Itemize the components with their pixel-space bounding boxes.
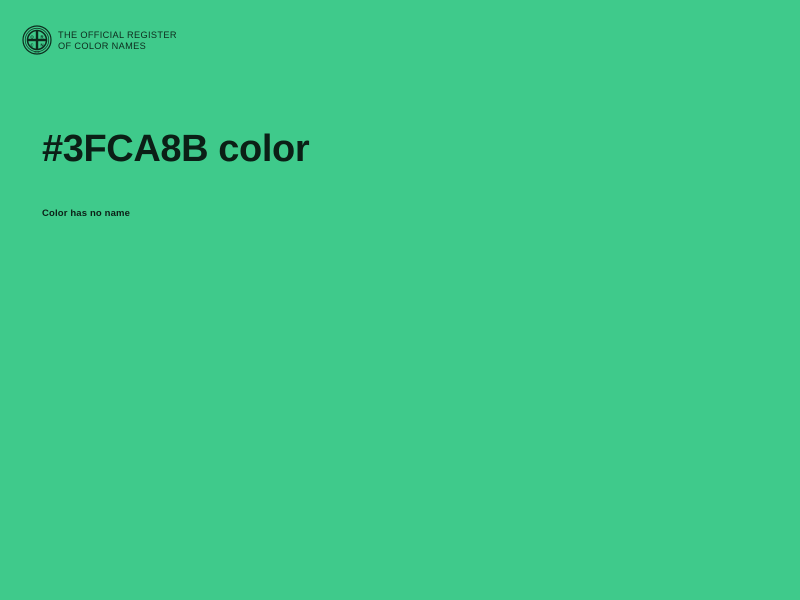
color-page: O R C N ★★★ THE OFFICIAL REGISTER OF COL… [0,0,800,600]
color-name-status: Color has no name [42,172,742,219]
brand-wordmark: THE OFFICIAL REGISTER OF COLOR NAMES [58,29,177,52]
brand-logo[interactable]: O R C N ★★★ THE OFFICIAL REGISTER OF COL… [22,25,177,55]
svg-text:O: O [30,34,34,39]
svg-text:R: R [40,34,43,39]
svg-text:C: C [30,43,33,48]
brand-line-2: OF COLOR NAMES [58,41,177,52]
register-seal-icon: O R C N ★★★ [22,25,52,55]
page-title: #3FCA8B color [42,128,742,172]
color-info: #3FCA8B color Color has no name [42,128,742,219]
svg-text:★★★: ★★★ [34,51,40,54]
brand-line-1: THE OFFICIAL REGISTER [58,30,177,41]
svg-text:N: N [40,43,43,48]
